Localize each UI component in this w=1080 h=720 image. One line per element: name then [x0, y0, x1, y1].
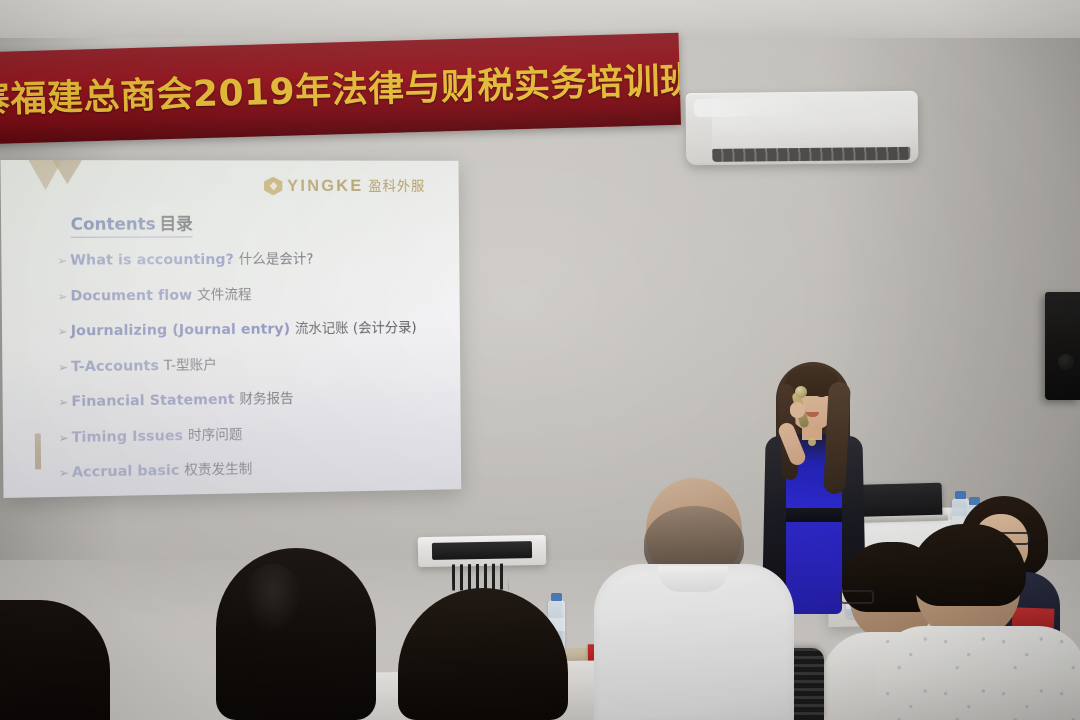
projection-screen: YINGKE 盈科外服 Contents目录 ➢ What is account…	[1, 160, 462, 498]
attendee-hair	[398, 588, 568, 720]
air-conditioner-vent	[712, 147, 910, 162]
screen-vignette	[1, 160, 462, 498]
recording-device-face	[432, 541, 532, 560]
list-item	[0, 600, 120, 720]
attendee-hair	[910, 524, 1026, 606]
presenter-hand	[790, 402, 805, 418]
attendee-hair	[0, 600, 110, 720]
attendee-hair	[216, 548, 376, 720]
presenter-necklace	[808, 438, 816, 446]
microphone-head	[795, 386, 807, 398]
list-item	[398, 588, 568, 720]
wall-speaker-icon	[1045, 292, 1080, 400]
seminar-photo-scene: 寨福建总商会2019年法律与财税实务培训班（第1期） YINGKE 盈科外服 C…	[0, 0, 1080, 720]
attendee-shirt-pattern	[876, 626, 1080, 720]
list-item	[880, 530, 1080, 720]
eyeglasses-icon	[840, 590, 874, 604]
attendee-collar	[658, 566, 728, 592]
air-conditioner-highlight	[694, 98, 814, 117]
presenter-eye-right	[818, 394, 825, 397]
attendee-hair-sheen	[244, 564, 302, 634]
speaker-cone	[1058, 354, 1074, 370]
recording-device-mount	[452, 564, 508, 591]
bottle-cap	[955, 491, 966, 499]
list-item	[216, 548, 376, 720]
red-event-banner: 寨福建总商会2019年法律与财税实务培训班（第1期）	[0, 33, 681, 144]
list-item	[594, 478, 794, 720]
presenter-belt	[786, 508, 842, 522]
air-conditioner-icon	[686, 91, 919, 165]
